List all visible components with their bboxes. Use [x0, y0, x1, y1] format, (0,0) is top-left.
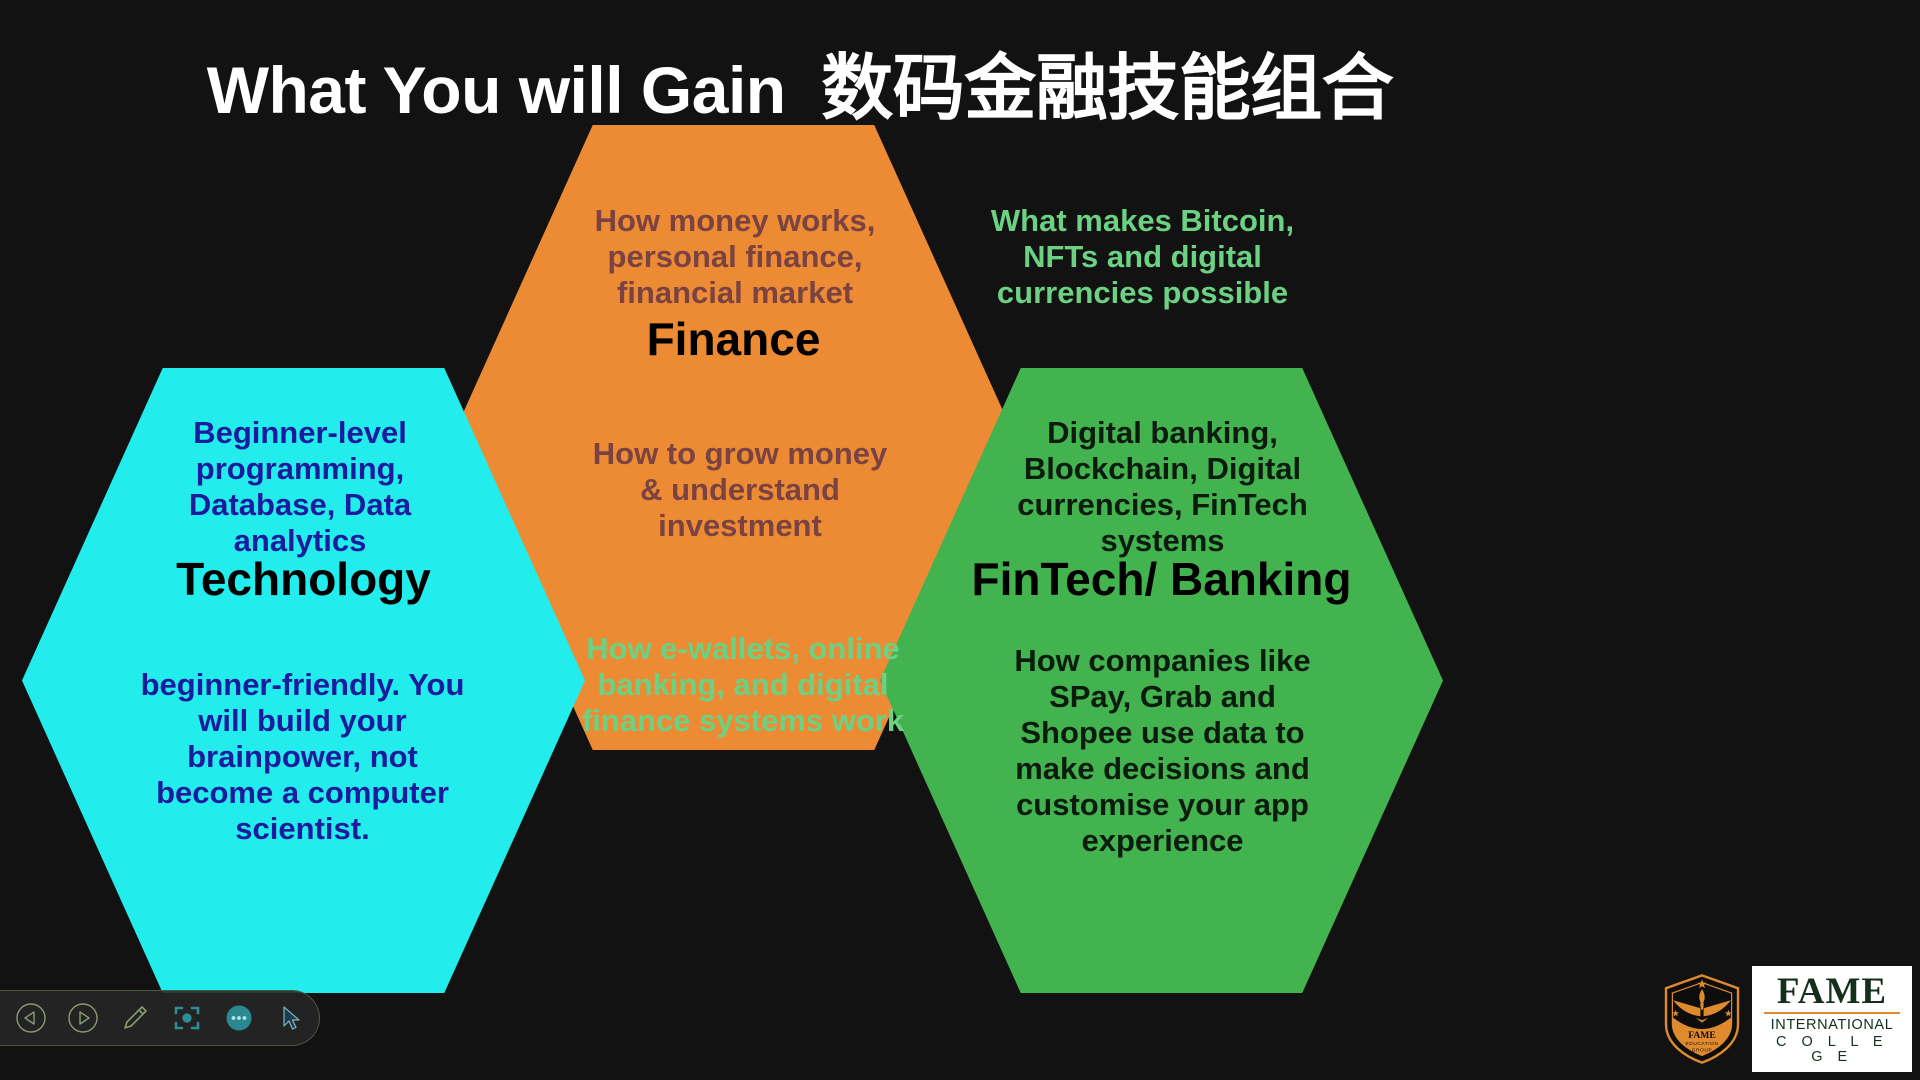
next-slide-button[interactable] — [66, 1001, 100, 1035]
badge-text-fame: FAME — [1688, 1030, 1716, 1041]
pointer-tool-button[interactable] — [274, 1001, 308, 1035]
pen-tool-button[interactable] — [118, 1001, 152, 1035]
wordmark-international: INTERNATIONAL — [1764, 1018, 1900, 1033]
cursor-icon — [275, 1002, 307, 1034]
wordmark-college: C O L L E G E — [1764, 1035, 1900, 1064]
fintech-description-top: Digital banking, Blockchain, Digital cur… — [995, 415, 1330, 559]
bitcoin-note-text: What makes Bitcoin, NFTs and digital cur… — [975, 203, 1310, 311]
hexagon-label-technology: Technology — [22, 552, 585, 606]
hexagon-label-fintech: FinTech/ Banking — [880, 552, 1443, 606]
ewallet-note-text: How e-wallets, online banking, and digit… — [578, 631, 908, 739]
page-title: What You will Gain 数码金融技能组合 — [0, 52, 1600, 128]
previous-slide-button[interactable] — [14, 1001, 48, 1035]
presentation-slide: What You will Gain 数码金融技能组合 How money wo… — [0, 0, 1920, 1080]
branding-logos: FAME EDUCATION GROUP FAME INTERNATIONAL … — [1662, 966, 1912, 1073]
fintech-description-bottom: How companies like SPay, Grab and Shopee… — [1000, 643, 1325, 859]
presentation-toolbar[interactable] — [0, 990, 320, 1046]
fame-education-group-badge-icon: FAME EDUCATION GROUP — [1662, 973, 1742, 1065]
finance-description-top: How money works, personal finance, finan… — [560, 203, 910, 311]
triangle-right-icon — [67, 1002, 99, 1034]
page-title-english: What You will Gain — [207, 53, 786, 127]
badge-text-education: EDUCATION — [1686, 1041, 1719, 1047]
badge-text-group: GROUP — [1692, 1047, 1712, 1053]
fame-international-college-wordmark: FAME INTERNATIONAL C O L L E G E — [1752, 966, 1912, 1073]
technology-description-bottom: beginner-friendly. You will build your b… — [140, 667, 465, 847]
wordmark-fame: FAME — [1764, 973, 1900, 1014]
more-options-button[interactable] — [222, 1001, 256, 1035]
pen-icon — [119, 1002, 151, 1034]
ellipsis-circle-icon — [223, 1002, 255, 1034]
page-title-chinese: 数码金融技能组合 — [821, 49, 1393, 129]
finance-description-bottom: How to grow money & understand investmen… — [585, 436, 895, 544]
hexagon-label-finance: Finance — [452, 312, 1015, 366]
focus-crop-button[interactable] — [170, 1001, 204, 1035]
focus-frame-icon — [171, 1002, 203, 1034]
technology-description-top: Beginner-level programming, Database, Da… — [150, 415, 450, 559]
triangle-left-icon — [15, 1002, 47, 1034]
